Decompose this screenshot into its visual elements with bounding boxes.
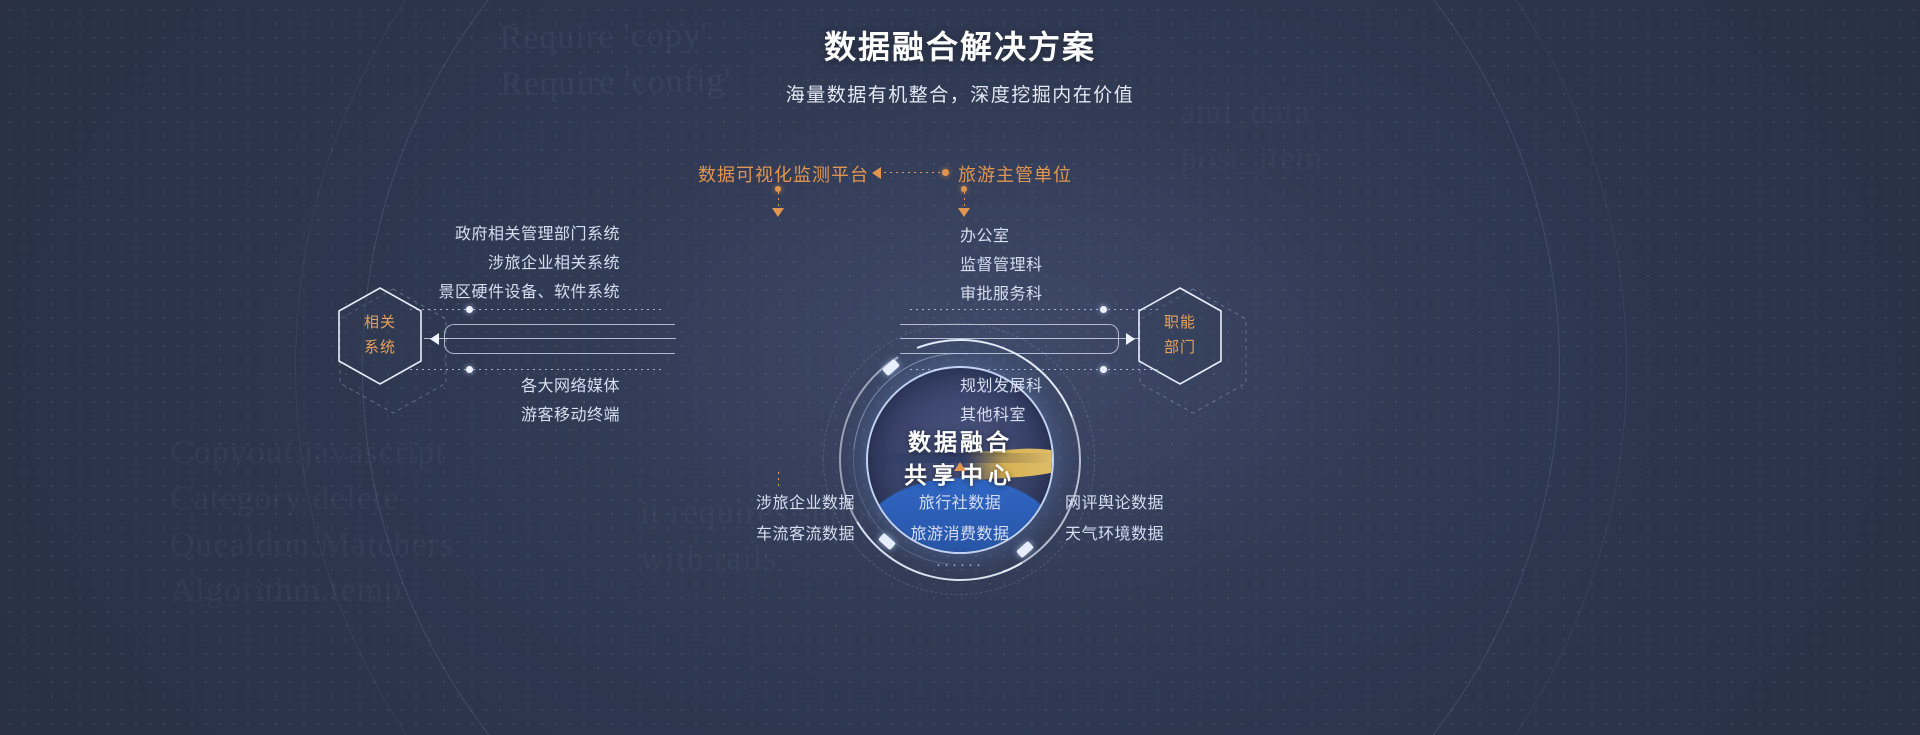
page-title: 数据融合解决方案 [0,28,1920,66]
arrow-down-icon-platform [772,208,784,217]
label-tourism-authority[interactable]: 旅游主管单位 [958,161,1072,187]
bottom-data-cell-r2c2[interactable]: 旅游消费数据 [885,519,1035,550]
bottom-data-cell-r2c1[interactable]: 车流客流数据 [731,519,881,550]
left-upper-feed-line [473,309,663,310]
left-source-item-1[interactable]: 政府相关管理部门系统 [200,220,620,249]
bottom-data-row-1: 涉旅企业数据 旅行社数据 网评舆论数据 [731,488,1190,519]
right-department-item-1[interactable]: 办公室 [960,222,1290,251]
hex-right-label: 职能 部门 [1136,310,1224,360]
arrow-left-icon [872,167,881,179]
connector-bottom-up [778,472,779,488]
hex-related-systems[interactable]: 相关 系统 [336,286,424,386]
right-upper-feed-line [910,309,1100,310]
page-subtitle: 海量数据有机整合，深度挖掘内在价值 [0,80,1920,107]
connector-platform-authority [884,172,940,173]
bottom-data-row-2: 车流客流数据 旅游消费数据 天气环境数据 [731,519,1190,550]
hex-left-label: 相关 系统 [336,310,424,360]
arrow-up-icon-bottom [954,462,966,471]
bottom-data-grid: 涉旅企业数据 旅行社数据 网评舆论数据 车流客流数据 旅游消费数据 天气环境数据… [731,488,1190,573]
left-source-item-2[interactable]: 涉旅企业相关系统 [200,249,620,278]
bottom-data-cell-r1c2[interactable]: 旅行社数据 [885,488,1035,519]
bottom-data-cell-r1c3[interactable]: 网评舆论数据 [1039,488,1189,519]
left-lower-feed-line [473,369,663,370]
arrow-right-icon-rail [1126,333,1135,345]
left-rail-pipe [444,324,675,354]
bottom-data-ellipsis: ······ [731,556,1190,573]
hex-right-line2: 部门 [1136,335,1224,360]
hub-title: 数据融合 共享中心 [839,426,1081,492]
hex-left-line2: 系统 [336,335,424,360]
label-visualization-platform[interactable]: 数据可视化监测平台 [698,161,869,187]
bottom-data-cell-r2c3[interactable]: 天气环境数据 [1039,519,1189,550]
hub-title-line1: 数据融合 [839,426,1081,459]
hex-right-line1: 职能 [1136,310,1224,335]
hex-left-line1: 相关 [336,310,424,335]
page-header: 数据融合解决方案 海量数据有机整合，深度挖掘内在价值 [0,28,1920,107]
left-rail-center-line [444,338,676,339]
bottom-data-sources: 涉旅企业数据 旅行社数据 网评舆论数据 车流客流数据 旅游消费数据 天气环境数据… [0,488,1920,574]
hex-functional-departments[interactable]: 职能 部门 [1136,286,1224,386]
connector-dot-authority [942,169,949,176]
bottom-data-cell-r1c1[interactable]: 涉旅企业数据 [731,488,881,519]
arrow-down-icon-authority [958,208,970,217]
right-department-item-2[interactable]: 监督管理科 [960,251,1290,280]
infographic-stage: Require 'copy' Require 'config' Copyout.… [0,0,1920,735]
